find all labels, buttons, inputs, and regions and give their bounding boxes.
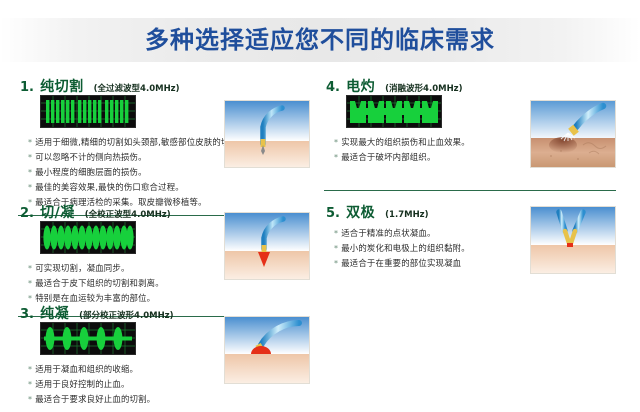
- bullet-dot-icon: *: [28, 138, 32, 147]
- section-5-heading: 5. 双极 (1.7MHz): [326, 204, 429, 220]
- illustration-bipolar: [530, 206, 616, 274]
- section-4-divider: [324, 190, 616, 191]
- section-4-heading: 4. 电灼 (消融波形4.0MHz): [326, 78, 463, 94]
- section-5-number: 5.: [326, 206, 340, 221]
- section-1-waveform-display: [40, 95, 136, 128]
- list-item: *最佳的美容效果,最快的伤口愈合过程。: [28, 180, 314, 195]
- bullet-dot-icon: *: [28, 380, 32, 389]
- section-1-name: 纯切割: [40, 79, 84, 95]
- bullet-dot-icon: *: [28, 168, 32, 177]
- bullet-dot-icon: *: [28, 279, 32, 288]
- section-5-name: 双极: [346, 205, 375, 221]
- section-3-waveform-display: [40, 322, 136, 355]
- section-4-number: 4.: [326, 80, 340, 95]
- section-2-paren: (全校正波型4.0MHz): [85, 210, 171, 220]
- list-item: *最适合于要求良好止血的切割。: [28, 392, 314, 407]
- bullet-dot-icon: *: [28, 183, 32, 192]
- bullet-dot-icon: *: [334, 244, 338, 253]
- illustration-cut-coag: [224, 212, 310, 280]
- section-1-paren: (全过滤波型4.0MHz): [94, 84, 180, 94]
- section-4-paren: (消融波形4.0MHz): [385, 84, 462, 94]
- section-3-name: 纯凝: [40, 306, 69, 322]
- bullet-dot-icon: *: [28, 153, 32, 162]
- bullet-dot-icon: *: [334, 153, 338, 162]
- bullet-dot-icon: *: [28, 294, 32, 303]
- illustration-fulguration: [530, 100, 616, 168]
- section-3-heading: 3. 纯凝 (部分校正波形4.0MHz): [20, 305, 174, 321]
- illustration-pure-cut: [224, 100, 310, 168]
- bullet-dot-icon: *: [334, 138, 338, 147]
- bullet-dot-icon: *: [28, 395, 32, 404]
- section-1-number: 1.: [20, 80, 34, 95]
- section-3-paren: (部分校正波形4.0MHz): [79, 311, 173, 321]
- section-2-name: 切/凝: [40, 205, 75, 221]
- illustration-pure-coag: [224, 316, 310, 384]
- section-2-number: 2.: [20, 206, 34, 221]
- bullet-dot-icon: *: [334, 259, 338, 268]
- section-4-name: 电灼: [346, 79, 375, 95]
- section-5-paren: (1.7MHz): [385, 210, 428, 220]
- section-3-number: 3.: [20, 307, 34, 322]
- section-1-heading: 1. 纯切割 (全过滤波型4.0MHz): [20, 78, 180, 94]
- bullet-dot-icon: *: [334, 229, 338, 238]
- section-2-waveform-display: [40, 221, 136, 254]
- section-4-waveform-display: [346, 95, 442, 128]
- page-title: 多种选择适应您不同的临床需求: [0, 20, 640, 60]
- bullet-dot-icon: *: [28, 365, 32, 374]
- section-2-heading: 2. 切/凝 (全校正波型4.0MHz): [20, 204, 171, 220]
- bullet-dot-icon: *: [28, 264, 32, 273]
